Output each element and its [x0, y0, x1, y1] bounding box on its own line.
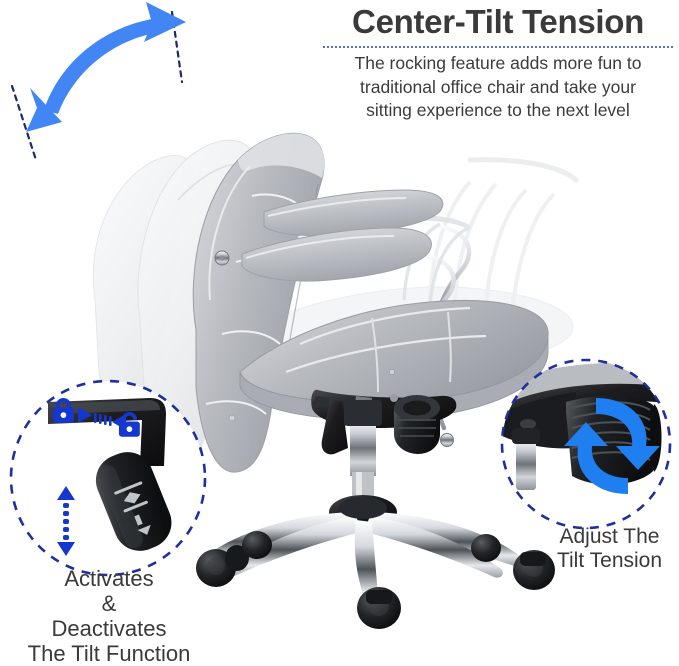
caption-line: Adjust The [540, 525, 679, 549]
caption-line: Tilt Tension [540, 549, 679, 573]
caption-line: Deactivates [0, 616, 218, 641]
page-subtitle: The rocking feature adds more fun to tra… [322, 52, 674, 122]
gas-cylinder [344, 400, 382, 506]
subtitle-line: The rocking feature adds more fun to [322, 52, 674, 75]
header-block: Center-Tilt Tension The rocking feature … [322, 4, 674, 123]
header-divider [322, 46, 674, 48]
caster [242, 531, 272, 559]
caster [471, 534, 501, 562]
subtitle-line: sitting experience to the next level [322, 99, 674, 122]
caption-line: The Tilt Function [0, 641, 218, 666]
caption-line: & [0, 591, 218, 616]
page-title: Center-Tilt Tension [322, 4, 674, 40]
caster [357, 587, 401, 629]
product-feature-image: Center-Tilt Tension The rocking feature … [0, 0, 679, 665]
rocking-range-arrow [26, 2, 186, 132]
caption-line: Activates [0, 566, 218, 591]
callout-caption-tilt-lock: Activates & Deactivates The Tilt Functio… [0, 566, 218, 666]
subtitle-line: traditional office chair and take your [322, 76, 674, 99]
tilt-knob [394, 395, 440, 454]
callout-caption-tilt-tension: Adjust The Tilt Tension [540, 525, 679, 573]
